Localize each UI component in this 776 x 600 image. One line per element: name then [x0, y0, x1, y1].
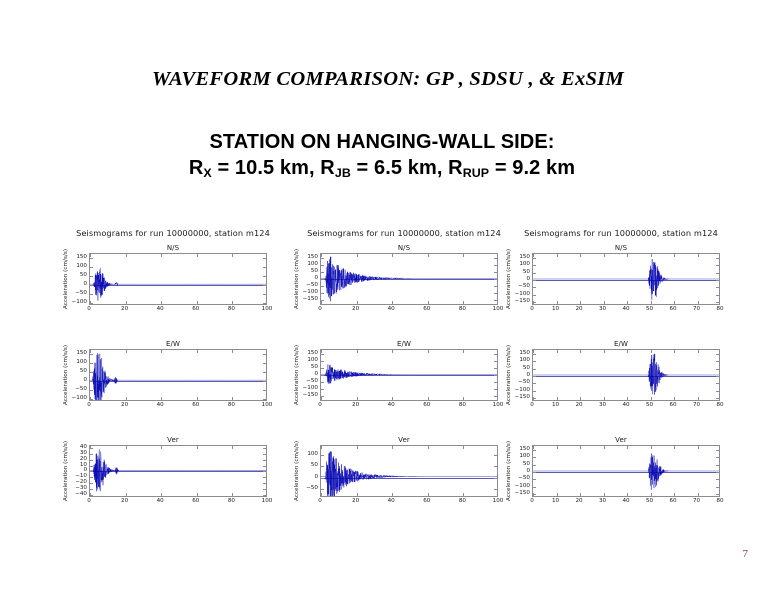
y-tick: 50 — [311, 462, 318, 468]
subplot-title: E/W — [62, 340, 284, 348]
y-tick-mark — [90, 294, 93, 295]
y-tick-mark — [321, 293, 324, 294]
y-tick-mark — [533, 450, 536, 451]
x-tick-mark — [698, 254, 699, 257]
subplot-title: E/W — [505, 340, 737, 348]
waveform-trace — [533, 254, 719, 304]
x-tick: 0 — [530, 498, 534, 504]
subplot-title: Ver — [293, 436, 515, 444]
y-tick-mark — [321, 368, 324, 369]
plot-area — [320, 445, 498, 497]
y-tick-mark — [716, 287, 719, 288]
plot-area — [320, 349, 498, 401]
y-tick-mark — [90, 489, 93, 490]
x-tick: 0 — [530, 402, 534, 408]
x-tick: 80 — [459, 306, 466, 312]
x-tick-mark — [651, 254, 652, 257]
plot-area — [532, 445, 720, 497]
y-tick: 50 — [523, 365, 530, 371]
y-tick-mark — [716, 273, 719, 274]
y-tick-mark — [716, 494, 719, 495]
plot-area — [532, 349, 720, 401]
y-tick-mark — [90, 258, 93, 259]
x-tick-mark — [357, 350, 358, 353]
y-tick-mark — [716, 265, 719, 266]
x-tick-mark — [161, 446, 162, 449]
y-tick-mark — [533, 280, 536, 281]
x-tick: 40 — [388, 306, 395, 312]
y-tick: 0 — [83, 377, 87, 383]
x-tick-mark — [126, 301, 127, 304]
subplot-ver: VerAcceleration (cm/s/s)150100500−50−100… — [505, 436, 737, 507]
y-tick-mark — [321, 489, 324, 490]
x-tick-mark — [197, 446, 198, 449]
x-tick: 80 — [228, 402, 235, 408]
x-tick: 80 — [716, 306, 723, 312]
y-tick: 150 — [519, 446, 530, 452]
y-tick-mark — [533, 354, 536, 355]
x-tick-mark — [580, 254, 581, 257]
x-tick-mark — [428, 446, 429, 449]
x-tick-mark — [627, 301, 628, 304]
x-tick: 40 — [157, 306, 164, 312]
y-tick-mark — [90, 454, 93, 455]
x-tick-mark — [557, 350, 558, 353]
y-tick-mark — [716, 479, 719, 480]
x-tick-mark — [126, 446, 127, 449]
y-tick: 0 — [314, 275, 318, 281]
subtitle-block: STATION ON HANGING-WALL SIDE: RX = 10.5 … — [0, 130, 776, 184]
x-tick: 100 — [493, 498, 504, 504]
y-axis-label: Acceleration (cm/s/s) — [62, 445, 70, 497]
x-tick-mark — [674, 350, 675, 353]
x-tick-mark — [357, 446, 358, 449]
x-tick-mark — [463, 397, 464, 400]
y-tick: 50 — [523, 461, 530, 467]
x-tick-mark — [428, 254, 429, 257]
y-tick-mark — [263, 448, 266, 449]
x-tick-mark — [357, 397, 358, 400]
x-tick-mark — [557, 254, 558, 257]
x-tick-mark — [197, 493, 198, 496]
x-tick: 0 — [318, 402, 322, 408]
page-title: WAVEFORM COMPARISON: GP , SDSU , & ExSIM — [0, 68, 776, 91]
x-tick-mark — [604, 301, 605, 304]
subplot-title: N/S — [62, 244, 284, 252]
y-tick: 150 — [307, 254, 318, 260]
y-tick-mark — [494, 389, 497, 390]
x-tick: 10 — [552, 306, 559, 312]
axes-row: Acceleration (cm/s/s)150100500−50−100−15… — [505, 445, 737, 497]
x-tick: 10 — [552, 402, 559, 408]
y-tick-mark — [90, 390, 93, 391]
x-tick: 80 — [228, 498, 235, 504]
x-tick: 40 — [622, 306, 629, 312]
y-tick: 100 — [76, 359, 87, 365]
y-tick-mark — [321, 354, 324, 355]
x-tick-mark — [463, 493, 464, 496]
y-tick-labels: 403020100−10−20−30−40 — [70, 445, 89, 497]
x-tick: 60 — [669, 498, 676, 504]
y-tick-mark — [533, 258, 536, 259]
x-tick-mark — [580, 350, 581, 353]
x-tick-mark — [357, 493, 358, 496]
subplot-e-w: E/WAcceleration (cm/s/s)150100500−50−100… — [62, 340, 284, 411]
y-tick-mark — [494, 293, 497, 294]
x-tick: 30 — [599, 498, 606, 504]
x-tick: 40 — [157, 498, 164, 504]
y-tick-mark — [263, 363, 266, 364]
y-tick: 150 — [307, 350, 318, 356]
x-tick: 100 — [262, 306, 273, 312]
x-tick-mark — [392, 254, 393, 257]
y-tick: 100 — [307, 357, 318, 363]
x-tick-labels: 020406080100 — [89, 401, 267, 411]
y-tick-mark — [263, 471, 266, 472]
y-tick-mark — [263, 483, 266, 484]
x-tick-mark — [533, 493, 534, 496]
x-tick-mark — [557, 493, 558, 496]
x-tick: 20 — [575, 306, 582, 312]
x-tick-mark — [357, 254, 358, 257]
y-tick: −50 — [518, 475, 530, 481]
x-tick-labels: 01020304050607080 — [532, 401, 720, 411]
x-tick: 70 — [693, 402, 700, 408]
x-tick: 40 — [388, 402, 395, 408]
x-tick: 30 — [599, 402, 606, 408]
y-axis-label: Acceleration (cm/s/s) — [293, 445, 301, 497]
x-tick-mark — [232, 397, 233, 400]
y-axis-label: Acceleration (cm/s/s) — [62, 349, 70, 401]
y-tick-mark — [533, 273, 536, 274]
x-tick-mark — [126, 493, 127, 496]
y-tick-mark — [263, 381, 266, 382]
y-tick: 50 — [80, 368, 87, 374]
y-tick: 100 — [519, 261, 530, 267]
x-tick: 70 — [693, 306, 700, 312]
x-tick-mark — [651, 397, 652, 400]
y-tick-mark — [321, 375, 324, 376]
y-tick-mark — [533, 457, 536, 458]
x-tick-mark — [232, 350, 233, 353]
x-tick-mark — [232, 301, 233, 304]
y-tick-mark — [533, 287, 536, 288]
x-tick-mark — [463, 446, 464, 449]
x-tick-mark — [557, 446, 558, 449]
y-tick-mark — [533, 265, 536, 266]
y-tick-mark — [494, 396, 497, 397]
x-tick-mark — [392, 301, 393, 304]
x-tick: 20 — [121, 306, 128, 312]
y-tick-mark — [90, 381, 93, 382]
y-tick-mark — [533, 369, 536, 370]
y-tick-mark — [90, 267, 93, 268]
y-tick: −100 — [72, 299, 87, 305]
gp-panel: Seismograms for run 10000000, station m1… — [62, 228, 284, 507]
y-tick-mark — [494, 272, 497, 273]
y-tick-mark — [494, 286, 497, 287]
y-tick: −50 — [518, 379, 530, 385]
subplot-n-s: N/SAcceleration (cm/s/s)150100500−50−100… — [293, 244, 515, 315]
x-tick-mark — [698, 446, 699, 449]
subplot-n-s: N/SAcceleration (cm/s/s)150100500−50−100… — [62, 244, 284, 315]
axes-row: Acceleration (cm/s/s)100500−50 — [293, 445, 515, 497]
rx-value: = 10.5 km, — [212, 157, 321, 179]
y-tick-labels: 150100500−50−100−150 — [513, 349, 532, 401]
y-tick-mark — [716, 487, 719, 488]
axes-row: Acceleration (cm/s/s)150100500−50−100−15… — [505, 253, 737, 305]
axes-row: Acceleration (cm/s/s)150100500−50−100−15… — [505, 349, 737, 401]
y-tick-mark — [90, 466, 93, 467]
x-tick-mark — [161, 350, 162, 353]
x-tick: 20 — [352, 402, 359, 408]
plot-area — [89, 253, 267, 305]
y-tick-mark — [494, 265, 497, 266]
rrup-value: = 9.2 km — [489, 157, 575, 179]
y-tick-labels: 150100500−50−100 — [70, 349, 89, 401]
x-tick-mark — [533, 397, 534, 400]
y-tick-mark — [716, 354, 719, 355]
x-tick: 60 — [192, 498, 199, 504]
y-tick-mark — [321, 389, 324, 390]
y-axis-label: Acceleration (cm/s/s) — [505, 445, 513, 497]
x-tick-mark — [357, 301, 358, 304]
y-tick-mark — [90, 285, 93, 286]
x-tick: 80 — [459, 498, 466, 504]
waveform-trace — [533, 446, 719, 496]
plot-area — [89, 349, 267, 401]
y-tick-mark — [263, 477, 266, 478]
x-tick-mark — [674, 301, 675, 304]
sdsu-panel: Seismograms for run 10000000, station m1… — [293, 228, 515, 507]
y-tick: −50 — [75, 290, 87, 296]
y-axis-label: Acceleration (cm/s/s) — [505, 349, 513, 401]
exsim-panel: Seismograms for run 10000000, station m1… — [505, 228, 737, 507]
x-tick-mark — [580, 446, 581, 449]
x-tick-mark — [627, 446, 628, 449]
y-tick-mark — [263, 276, 266, 277]
y-tick: −150 — [515, 394, 530, 400]
y-tick-mark — [263, 489, 266, 490]
subplot-e-w: E/WAcceleration (cm/s/s)150100500−50−100… — [505, 340, 737, 411]
x-tick-mark — [463, 254, 464, 257]
x-tick: 0 — [318, 498, 322, 504]
x-tick-mark — [627, 350, 628, 353]
waveform-trace — [533, 350, 719, 400]
y-tick-mark — [533, 487, 536, 488]
rjb-value: = 6.5 km, — [351, 157, 448, 179]
x-tick-mark — [161, 397, 162, 400]
y-tick-mark — [263, 258, 266, 259]
y-tick-mark — [263, 294, 266, 295]
waveform-trace — [90, 446, 266, 496]
subtitle-line-2: RX = 10.5 km, RJB = 6.5 km, RRUP = 9.2 k… — [0, 155, 776, 184]
x-tick: 80 — [716, 402, 723, 408]
y-tick-mark — [494, 361, 497, 362]
y-tick-mark — [90, 460, 93, 461]
y-tick: 100 — [519, 453, 530, 459]
y-tick-mark — [263, 495, 266, 496]
x-tick: 20 — [575, 498, 582, 504]
x-tick-labels: 020406080100 — [89, 305, 267, 315]
waveform-trace — [321, 350, 497, 400]
x-tick: 20 — [575, 402, 582, 408]
x-tick-mark — [604, 350, 605, 353]
x-tick-mark — [604, 397, 605, 400]
x-tick-mark — [90, 254, 91, 257]
x-tick: 100 — [493, 402, 504, 408]
x-tick-mark — [674, 254, 675, 257]
x-tick-mark — [321, 301, 322, 304]
y-tick-mark — [263, 354, 266, 355]
x-tick: 0 — [87, 306, 91, 312]
x-tick-mark — [90, 493, 91, 496]
y-tick-mark — [716, 280, 719, 281]
x-tick: 80 — [228, 306, 235, 312]
y-tick: 100 — [76, 263, 87, 269]
y-axis-label: Acceleration (cm/s/s) — [293, 349, 301, 401]
waveform-trace — [90, 254, 266, 304]
y-axis-label: Acceleration (cm/s/s) — [293, 253, 301, 305]
y-tick: −150 — [303, 392, 318, 398]
y-tick: 100 — [307, 261, 318, 267]
subplot-title: Ver — [505, 436, 737, 444]
x-tick: 0 — [87, 402, 91, 408]
rjb-symbol: R — [320, 157, 335, 179]
x-tick-mark — [651, 350, 652, 353]
y-tick-mark — [533, 376, 536, 377]
x-tick-mark — [533, 254, 534, 257]
y-tick-mark — [494, 382, 497, 383]
x-tick-mark — [428, 350, 429, 353]
x-tick: 60 — [669, 402, 676, 408]
x-tick-mark — [321, 397, 322, 400]
x-tick: 100 — [262, 402, 273, 408]
rrup-subscript: RUP — [463, 166, 489, 180]
x-tick: 50 — [646, 306, 653, 312]
y-tick-mark — [263, 285, 266, 286]
x-tick-mark — [197, 254, 198, 257]
y-tick-mark — [321, 286, 324, 287]
y-tick: −100 — [515, 387, 530, 393]
figure-title: Seismograms for run 10000000, station m1… — [293, 228, 515, 238]
y-tick-mark — [494, 455, 497, 456]
x-tick-mark — [90, 397, 91, 400]
x-tick-mark — [90, 301, 91, 304]
y-tick: −100 — [303, 289, 318, 295]
x-tick-labels: 020406080100 — [320, 497, 498, 507]
x-tick: 50 — [646, 498, 653, 504]
y-tick-mark — [533, 295, 536, 296]
plot-area — [532, 253, 720, 305]
x-tick: 40 — [622, 402, 629, 408]
y-tick-mark — [90, 363, 93, 364]
x-tick: 0 — [530, 306, 534, 312]
y-tick: −150 — [515, 298, 530, 304]
x-tick-labels: 01020304050607080 — [532, 497, 720, 507]
x-tick: 60 — [423, 498, 430, 504]
x-tick: 60 — [192, 306, 199, 312]
x-tick-mark — [674, 397, 675, 400]
x-tick-mark — [580, 301, 581, 304]
x-tick: 60 — [423, 306, 430, 312]
y-tick-mark — [263, 267, 266, 268]
x-tick-mark — [651, 446, 652, 449]
y-tick-mark — [494, 368, 497, 369]
axes-row: Acceleration (cm/s/s)150100500−50−100−15… — [293, 349, 515, 401]
x-tick-mark — [321, 350, 322, 353]
slide-canvas: WAVEFORM COMPARISON: GP , SDSU , & ExSIM… — [0, 0, 776, 600]
axes-row: Acceleration (cm/s/s)403020100−10−20−30−… — [62, 445, 284, 497]
y-tick-mark — [494, 258, 497, 259]
y-tick-mark — [494, 466, 497, 467]
y-tick-mark — [494, 300, 497, 301]
x-tick-mark — [627, 254, 628, 257]
subplot-e-w: E/WAcceleration (cm/s/s)150100500−50−100… — [293, 340, 515, 411]
x-tick-labels: 020406080100 — [320, 401, 498, 411]
x-tick-mark — [161, 301, 162, 304]
x-tick: 60 — [192, 402, 199, 408]
y-tick: 100 — [519, 357, 530, 363]
x-tick-mark — [428, 397, 429, 400]
y-tick: −100 — [515, 483, 530, 489]
y-tick-mark — [494, 375, 497, 376]
y-tick: −40 — [75, 491, 87, 497]
x-tick-mark — [321, 254, 322, 257]
y-tick: 0 — [526, 372, 530, 378]
y-tick-labels: 150100500−50−100 — [70, 253, 89, 305]
y-tick-mark — [263, 390, 266, 391]
y-tick-mark — [716, 450, 719, 451]
x-tick-mark — [604, 254, 605, 257]
subplot-title: Ver — [62, 436, 284, 444]
x-tick-mark — [580, 397, 581, 400]
y-tick-mark — [321, 382, 324, 383]
y-tick-mark — [90, 276, 93, 277]
y-tick: 0 — [314, 474, 318, 480]
x-tick-mark — [126, 350, 127, 353]
y-tick-labels: 100500−50 — [301, 445, 320, 497]
y-tick: −50 — [518, 283, 530, 289]
y-tick-mark — [90, 483, 93, 484]
y-axis-label: Acceleration (cm/s/s) — [62, 253, 70, 305]
x-tick-mark — [698, 301, 699, 304]
x-tick-mark — [533, 301, 534, 304]
y-tick-mark — [321, 279, 324, 280]
plot-area — [89, 445, 267, 497]
subtitle-line-1: STATION ON HANGING-WALL SIDE: — [0, 130, 776, 155]
y-tick-mark — [90, 354, 93, 355]
y-tick-mark — [321, 361, 324, 362]
y-tick-mark — [533, 391, 536, 392]
x-tick: 40 — [157, 402, 164, 408]
y-tick-mark — [494, 478, 497, 479]
x-tick-mark — [533, 446, 534, 449]
x-tick-mark — [428, 493, 429, 496]
subplot-ver: VerAcceleration (cm/s/s)100500−500204060… — [293, 436, 515, 507]
axes-row: Acceleration (cm/s/s)150100500−50−100 — [62, 253, 284, 305]
x-tick: 40 — [388, 498, 395, 504]
subplot-n-s: N/SAcceleration (cm/s/s)150100500−50−100… — [505, 244, 737, 315]
y-tick-mark — [716, 398, 719, 399]
y-tick-mark — [533, 472, 536, 473]
x-tick-mark — [463, 350, 464, 353]
y-tick-mark — [90, 477, 93, 478]
subplot-title: E/W — [293, 340, 515, 348]
x-tick-mark — [321, 493, 322, 496]
x-tick-mark — [321, 446, 322, 449]
y-tick: 150 — [76, 254, 87, 260]
